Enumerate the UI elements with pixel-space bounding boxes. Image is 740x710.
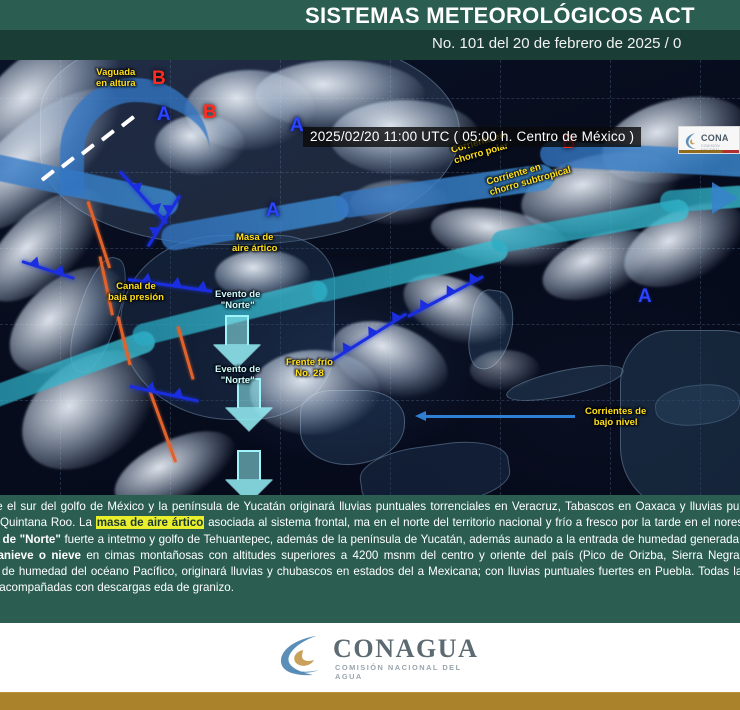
highlight-masa-aire-artico: masa de aire ártico [96, 516, 205, 529]
high-pressure-a-3: A [266, 200, 280, 222]
forecast-discussion-block: 28 se extenderá sobre el sur del golfo d… [0, 495, 740, 623]
cold-front-pip [172, 276, 183, 286]
label-vaguada-en-altura: Vaguadaen altura [96, 68, 136, 90]
cold-front-pip [465, 271, 478, 284]
discussion-part-3: asociada al sistema frontal, ma [204, 516, 370, 529]
bold-aguanieve-nieve: aguanieve o nieve [0, 549, 81, 562]
bulletin-number-date: No. 101 del 20 de febrero de 2025 / 0 [432, 35, 681, 52]
label-frente-frio-no-28: Frente fríoNo. 28 [286, 358, 333, 380]
conagua-logo: CONAGUA COMISIÓN NACIONAL DEL AGUA [275, 633, 475, 677]
conagua-swoosh-icon [275, 633, 329, 677]
bold-evento-norte: evento de "Norte" [0, 533, 61, 546]
low-pressure-b-1: B [152, 68, 166, 90]
discussion-part-5: fuerte a inte [61, 533, 126, 546]
map-conagua-logo-card: CONA COMISIÓN NACIONAL [678, 126, 740, 154]
high-pressure-a-2: A [290, 115, 304, 137]
header-title-bar: SISTEMAS METEOROLÓGICOS ACT [0, 0, 740, 30]
gridline [500, 60, 501, 495]
high-pressure-a-4: A [638, 286, 652, 308]
satellite-timestamp: 2025/02/20 11:00 UTC ( 05:00 h. Centro d… [303, 127, 641, 147]
label-evento-de-norte-2: Evento de"Norte" [215, 365, 260, 387]
forecast-discussion-text: 28 se extenderá sobre el sur del golfo d… [0, 499, 740, 597]
discussion-part-6: tmo y golfo de Tehuantepec, además de la… [126, 533, 740, 546]
low-pressure-b-2: B [203, 102, 217, 124]
footer-gold-bar [0, 692, 740, 710]
high-pressure-a-1: A [157, 104, 171, 126]
conagua-logo-tagline: COMISIÓN NACIONAL DEL AGUA [335, 663, 475, 681]
discussion-part-8: en cimas montañosas con altitudes superi… [81, 549, 650, 562]
page-title: SISTEMAS METEOROLÓGICOS ACT [305, 3, 695, 29]
cloud-mass [470, 350, 540, 390]
low-level-current-arrow [425, 415, 575, 418]
satellite-map[interactable]: Vaguadaen altura Canal debaja presión Ma… [0, 60, 740, 495]
map-logo-word: CONA [701, 133, 729, 143]
cold-front-pip [173, 386, 185, 397]
cold-front-pip [197, 280, 208, 290]
conagua-logo-word: CONAGUA [333, 634, 479, 664]
label-masa-de-aire-artico: Masa deaire ártico [232, 233, 277, 255]
discussion-part-11: da de granizo. [160, 581, 233, 594]
cold-front-pip [146, 381, 158, 392]
map-logo-accent-bar [679, 150, 740, 153]
conagua-swoosh-icon [684, 132, 698, 150]
jet-stream-arrowhead [712, 182, 738, 214]
label-corrientes-de-bajo-nivel: Corrientes debajo nivel [585, 407, 646, 429]
discussion-part-1: se extenderá sobre el sur del golfo de M… [0, 500, 608, 513]
label-evento-de-norte-1: Evento de"Norte" [215, 290, 260, 312]
header-subtitle-bar: No. 101 del 20 de febrero de 2025 / 0 [0, 30, 740, 60]
label-canal-de-baja-presion: Canal debaja presión [108, 282, 164, 304]
